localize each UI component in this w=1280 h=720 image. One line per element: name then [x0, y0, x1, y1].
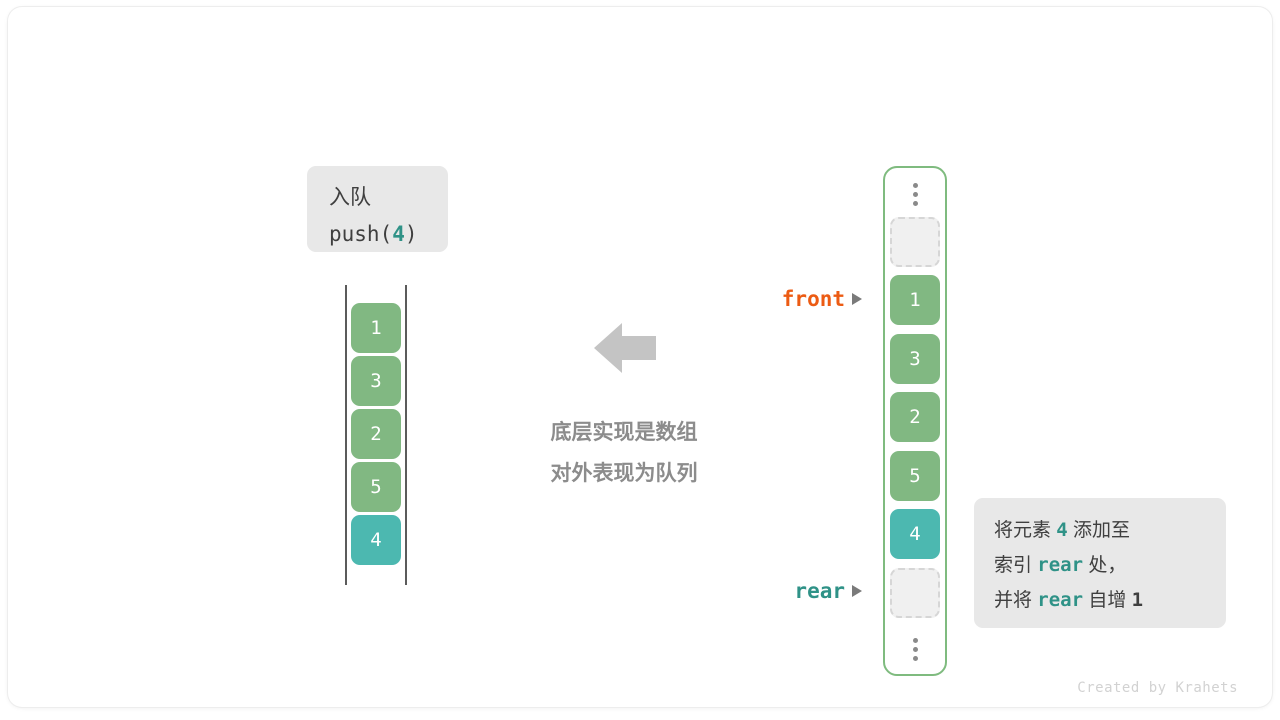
queue-rail-left — [345, 285, 347, 585]
rear-note-l2b: rear — [1037, 554, 1083, 576]
front-pointer: front — [782, 287, 862, 311]
push-operation-callout: 入队 push(4) — [307, 166, 448, 252]
figure-canvas: 入队 push(4) 1 3 2 5 4 底层实现是数组 对外表现为队列 fro… — [0, 0, 1280, 720]
array-ellipsis-top — [911, 183, 919, 206]
rear-note-l2c: 处， — [1088, 555, 1126, 576]
array-ellipsis-bottom — [911, 638, 919, 661]
array-slot-0: 1 — [890, 275, 940, 325]
array-slot-2: 2 — [890, 392, 940, 442]
queue-cell-2: 2 — [351, 409, 401, 459]
push-code-suffix: ) — [405, 222, 418, 246]
center-caption-line2: 对外表现为队列 — [496, 453, 752, 494]
rear-note-line1: 将元素 4 添加至 — [994, 513, 1226, 548]
array-slot-3: 5 — [890, 451, 940, 501]
array-view-column: 1 3 2 5 4 — [883, 166, 947, 676]
rear-note-l1b: 4 — [1056, 519, 1067, 541]
push-callout-code: push(4) — [329, 216, 448, 253]
rear-note-l1c: 添加至 — [1073, 520, 1130, 541]
queue-rail-right — [405, 285, 407, 585]
queue-cell-3: 5 — [351, 462, 401, 512]
center-caption-line1: 底层实现是数组 — [496, 412, 752, 453]
rear-note-l3a: 并将 — [994, 590, 1032, 611]
array-slot-empty-top — [890, 217, 940, 267]
queue-view-column: 1 3 2 5 4 — [345, 285, 407, 585]
array-slot-4: 4 — [890, 509, 940, 559]
rear-note-l1a: 将元素 — [994, 520, 1051, 541]
rear-arrow-icon — [852, 585, 862, 597]
rear-note-callout: 将元素 4 添加至 索引 rear 处， 并将 rear 自增 1 — [974, 498, 1226, 628]
rear-pointer-label: rear — [794, 579, 845, 603]
rear-note-l2a: 索引 — [994, 555, 1032, 576]
queue-cell-0: 1 — [351, 303, 401, 353]
push-code-prefix: push( — [329, 222, 392, 246]
center-caption: 底层实现是数组 对外表现为队列 — [496, 412, 752, 494]
array-slot-empty-bottom — [890, 568, 940, 618]
push-callout-line1: 入队 — [329, 180, 448, 216]
rear-note-l3d: 1 — [1132, 589, 1143, 611]
queue-cell-1: 3 — [351, 356, 401, 406]
watermark: Created by Krahets — [1077, 680, 1238, 696]
rear-note-line2: 索引 rear 处， — [994, 548, 1226, 583]
left-arrow-icon — [594, 320, 656, 376]
front-arrow-icon — [852, 293, 862, 305]
rear-note-line3: 并将 rear 自增 1 — [994, 583, 1226, 618]
rear-pointer: rear — [794, 579, 862, 603]
array-slot-1: 3 — [890, 334, 940, 384]
push-code-value: 4 — [392, 222, 405, 246]
rear-note-l3b: rear — [1037, 589, 1083, 611]
rear-note-l3c: 自增 — [1088, 590, 1126, 611]
queue-cell-4: 4 — [351, 515, 401, 565]
front-pointer-label: front — [782, 287, 845, 311]
